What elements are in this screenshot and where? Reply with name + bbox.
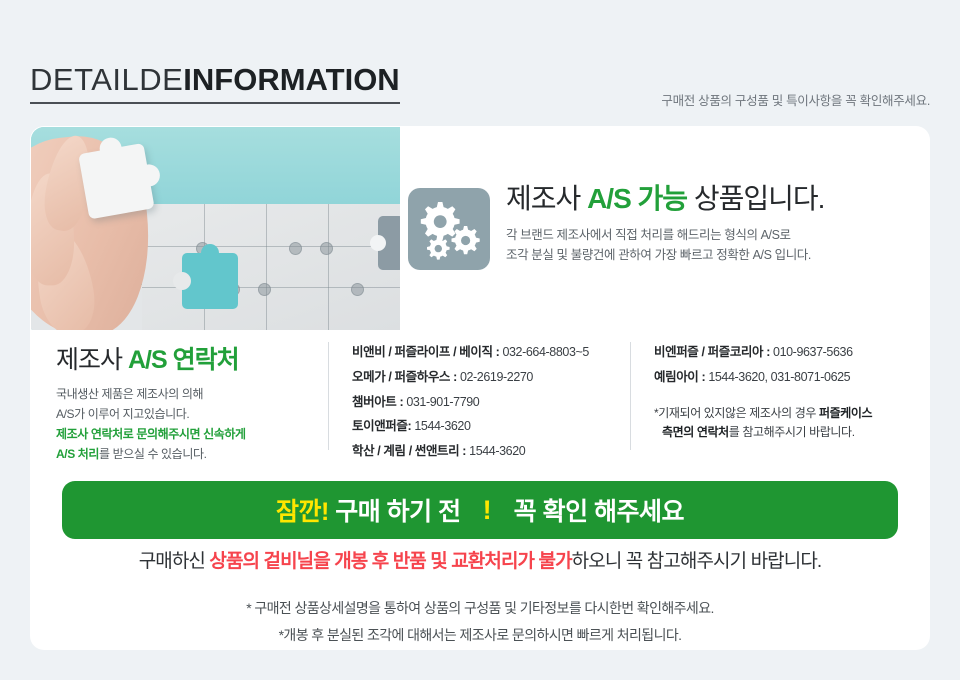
contact-row: 예림아이 : 1544-3620, 031-8071-0625 xyxy=(654,365,916,390)
contact-description: 국내생산 제품은 제조사의 의해 A/S가 이루어 지고있습니다. 제조사 연락… xyxy=(56,384,326,465)
footer-notice: 구매하신 상품의 겉비닐을 개봉 후 반품 및 교환처리가 불가하오니 꼭 참고… xyxy=(30,550,930,649)
contact-phone: 031-901-7790 xyxy=(406,395,479,409)
hero-subtext: 각 브랜드 제조사에서 직접 처리를 해드리는 형식의 A/S로 조각 분실 및… xyxy=(506,225,916,266)
exclamation-icon: ! xyxy=(483,497,492,524)
page-title-light: DETAILDE xyxy=(30,62,183,97)
contact-intro: 제조사 A/S 연락처 국내생산 제품은 제조사의 의해 A/S가 이루어 지고… xyxy=(56,340,326,465)
puzzle-hand-photo xyxy=(31,127,400,330)
gears-icon xyxy=(408,188,490,270)
contact-brand: 오메가 / 퍼즐하우스 : xyxy=(352,370,460,384)
contact-divider-left xyxy=(328,342,329,450)
contact-title-highlight: A/S 연락처 xyxy=(128,346,239,374)
footer-main-line: 구매하신 상품의 겉비닐을 개봉 후 반품 및 교환처리가 불가하오니 꼭 참고… xyxy=(30,550,930,575)
footer-main-highlight: 상품의 겉비닐을 개봉 후 반품 및 교환처리가 불가 xyxy=(209,551,571,572)
photo-edge-puzzle-piece xyxy=(378,216,400,270)
notice-banner-left-text: 구매 하기 전 xyxy=(329,498,461,526)
contact-desc-line-1: 국내생산 제품은 제조사의 의해 xyxy=(56,384,326,404)
hero-headline-pre: 제조사 xyxy=(506,183,587,214)
content-card: 제조사 A/S 가능 상품입니다. 각 브랜드 제조사에서 직접 처리를 해드리… xyxy=(30,126,930,650)
footer-sub-line-2: *개봉 후 분실된 조각에 대해서는 제조사로 문의하시면 빠르게 처리됩니다. xyxy=(30,622,930,649)
contact-title-pre: 제조사 xyxy=(56,346,128,374)
contact-section: 제조사 A/S 연락처 국내생산 제품은 제조사의 의해 A/S가 이루어 지고… xyxy=(30,334,930,462)
contact-note-line-1-bold: 퍼즐케이스 xyxy=(819,406,872,420)
contact-phone: 1544-3620 xyxy=(414,419,470,433)
hero-headline-highlight: A/S 가능 xyxy=(587,183,687,214)
contact-row: 학산 / 계림 / 썬앤트리 : 1544-3620 xyxy=(352,439,622,464)
footer-sub-lines: * 구매전 상품상세설명을 통하여 상품의 구성품 및 기타정보를 다시한번 확… xyxy=(30,595,930,650)
notice-banner-left: 잠깐! 구매 하기 전 xyxy=(276,492,461,528)
contact-row: 오메가 / 퍼즐하우스 : 02-2619-2270 xyxy=(352,365,622,390)
contact-brand: 챔버아트 : xyxy=(352,395,406,409)
contact-row: 비앤비 / 퍼즐라이프 / 베이직 : 032-664-8803~5 xyxy=(352,340,622,365)
notice-banner: 잠깐! 구매 하기 전 ! 꼭 확인 해주세요 xyxy=(62,481,898,539)
contact-brand: 예림아이 : xyxy=(654,370,708,384)
footer-main-pre: 구매하신 xyxy=(139,551,210,572)
contact-note-line-2-rest: 를 참고해주시기 바랍니다. xyxy=(729,425,855,439)
page-title: DETAILDEINFORMATION xyxy=(30,62,400,104)
contact-desc-line-4: A/S 처리를 받으실 수 있습니다. xyxy=(56,444,326,464)
photo-held-puzzle-piece xyxy=(78,143,154,219)
contact-phone: 010-9637-5636 xyxy=(773,345,853,359)
hero-headline: 제조사 A/S 가능 상품입니다. xyxy=(506,184,916,215)
contact-note-line-1-pre: *기재되어 있지않은 제조사의 경우 xyxy=(654,406,819,420)
contact-divider-right xyxy=(630,342,631,450)
hero-subtext-line-2: 조각 분실 및 불량건에 관하여 가장 빠르고 정확한 A/S 입니다. xyxy=(506,245,916,265)
hero-subtext-line-1: 각 브랜드 제조사에서 직접 처리를 해드리는 형식의 A/S로 xyxy=(506,225,916,245)
contact-brand: 학산 / 계림 / 썬앤트리 : xyxy=(352,444,469,458)
contact-column-middle: 비앤비 / 퍼즐라이프 / 베이직 : 032-664-8803~5 오메가 /… xyxy=(352,340,622,464)
photo-puzzle-grid xyxy=(142,204,400,330)
hero-headline-post: 상품입니다. xyxy=(687,183,824,214)
hero-section: 제조사 A/S 가능 상품입니다. 각 브랜드 제조사에서 직접 처리를 해드리… xyxy=(30,126,930,331)
contact-desc-line-2: A/S가 이루어 지고있습니다. xyxy=(56,404,326,424)
page-title-bold: INFORMATION xyxy=(183,62,399,97)
contact-title: 제조사 A/S 연락처 xyxy=(56,340,326,376)
contact-row: 비엔퍼즐 / 퍼즐코리아 : 010-9637-5636 xyxy=(654,340,916,365)
header-note: 구매전 상품의 구성품 및 특이사항을 꼭 확인해주세요. xyxy=(661,90,930,109)
footer-main-post: 하오니 꼭 참고해주시기 바랍니다. xyxy=(572,551,822,572)
contact-note: *기재되어 있지않은 제조사의 경우 퍼즐케이스 측면의 연락처를 참고해주시기… xyxy=(654,404,916,442)
photo-teal-puzzle-piece xyxy=(182,253,238,309)
hero-text: 제조사 A/S 가능 상품입니다. 각 브랜드 제조사에서 직접 처리를 해드리… xyxy=(506,184,916,265)
contact-phone: 1544-3620 xyxy=(469,444,525,458)
footer-sub-line-1: * 구매전 상품상세설명을 통하여 상품의 구성품 및 기타정보를 다시한번 확… xyxy=(30,595,930,622)
contact-brand: 비엔퍼즐 / 퍼즐코리아 : xyxy=(654,345,773,359)
notice-banner-right-text: 꼭 확인 해주세요 xyxy=(514,492,684,528)
contact-note-line-1: *기재되어 있지않은 제조사의 경우 퍼즐케이스 xyxy=(654,404,916,423)
contact-note-line-2: 측면의 연락처를 참고해주시기 바랍니다. xyxy=(654,423,916,442)
contact-row: 챔버아트 : 031-901-7790 xyxy=(352,390,622,415)
contact-phone: 02-2619-2270 xyxy=(460,370,533,384)
page-header: DETAILDEINFORMATION 구매전 상품의 구성품 및 특이사항을 … xyxy=(30,62,930,112)
contact-phone: 1544-3620, 031-8071-0625 xyxy=(708,370,850,384)
contact-brand: 토이앤퍼즐: xyxy=(352,419,414,433)
notice-banner-attention: 잠깐! xyxy=(276,498,329,526)
contact-phone: 032-664-8803~5 xyxy=(502,345,589,359)
contact-desc-line-4-rest: 를 받으실 수 있습니다. xyxy=(99,447,207,461)
contact-brand: 비앤비 / 퍼즐라이프 / 베이직 : xyxy=(352,345,502,359)
contact-desc-line-4-highlight: A/S 처리 xyxy=(56,447,99,461)
contact-column-right: 비엔퍼즐 / 퍼즐코리아 : 010-9637-5636 예림아이 : 1544… xyxy=(654,340,916,442)
contact-desc-line-3: 제조사 연락처로 문의해주시면 신속하게 xyxy=(56,424,326,444)
contact-note-line-2-bold: 측면의 연락처 xyxy=(662,425,729,439)
contact-row: 토이앤퍼즐: 1544-3620 xyxy=(352,414,622,439)
